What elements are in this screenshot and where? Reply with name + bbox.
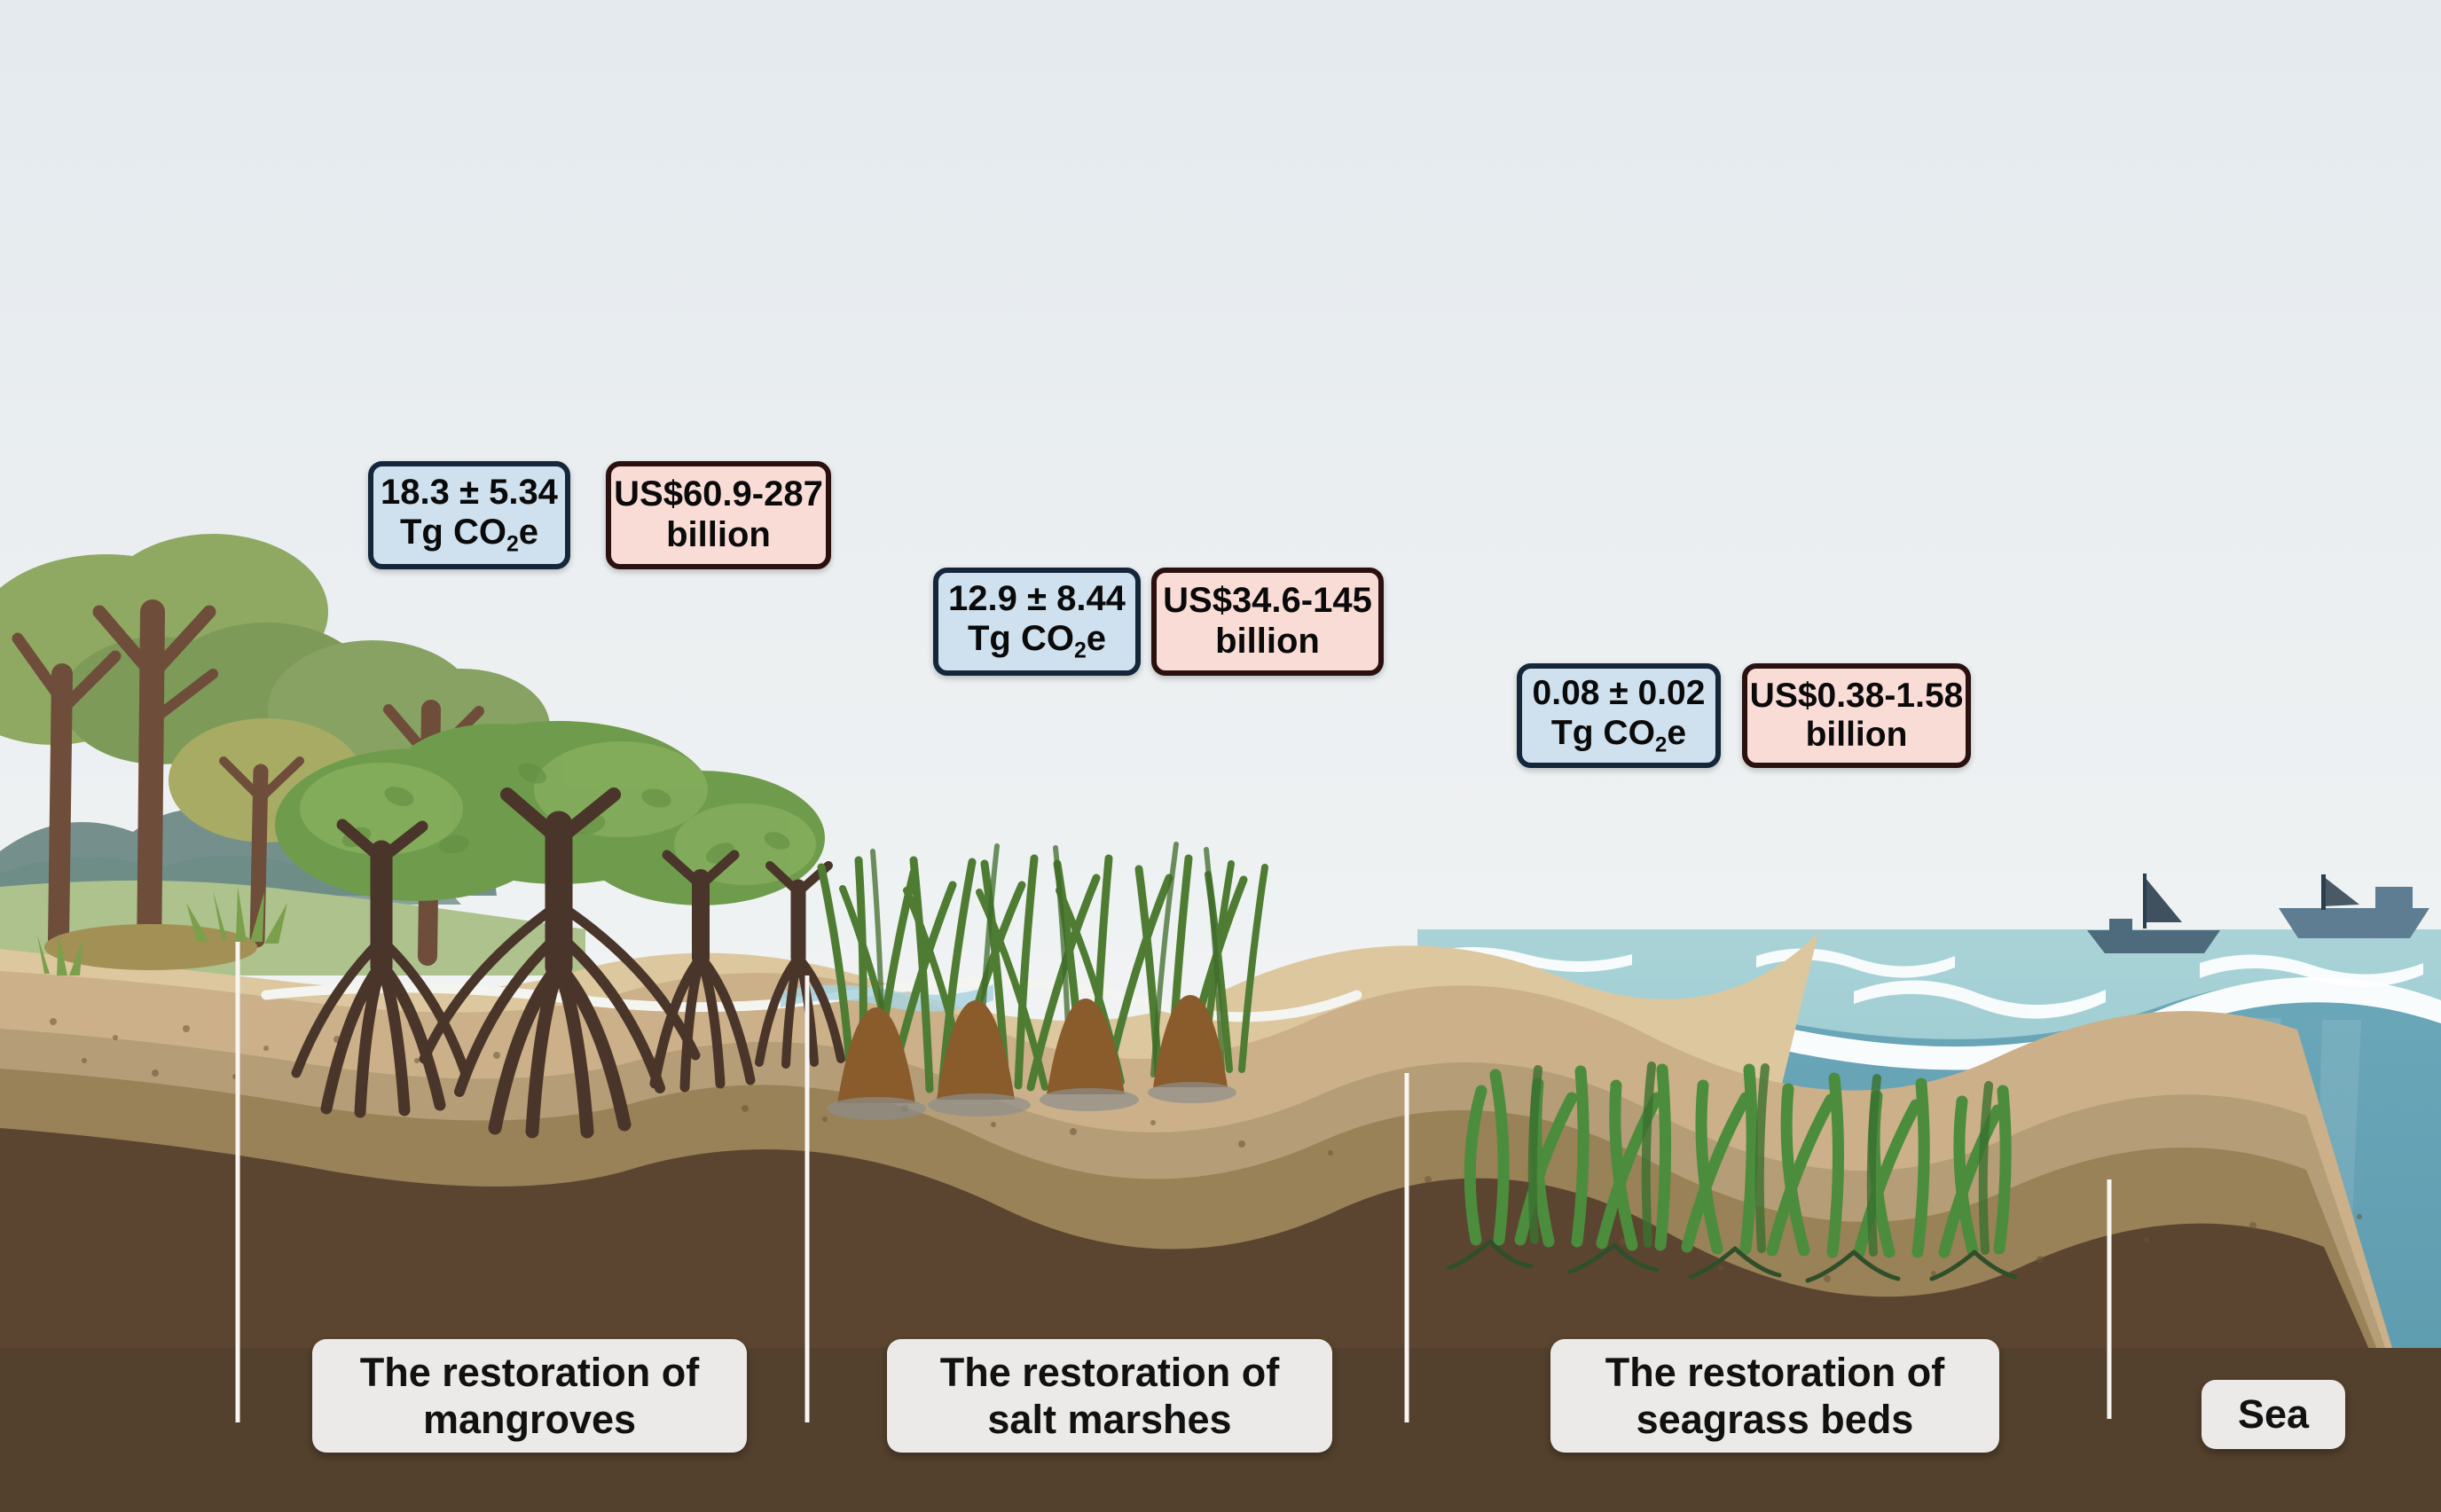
value-box-saltmarsh-carbon: 12.9 ± 8.44 Tg CO2e xyxy=(933,568,1141,676)
value-box-saltmarsh-esv: US$34.6-145 billion xyxy=(1151,568,1384,676)
value-line-2: billion xyxy=(666,515,771,556)
value-line-1: US$60.9-287 xyxy=(614,474,823,515)
label-line-1: Sea xyxy=(2238,1391,2309,1438)
value-line-2: Tg CO2e xyxy=(400,513,538,558)
ground-label-seagrass-beds: The restoration of seagrass beds xyxy=(1550,1339,1999,1453)
label-line-1: The restoration of xyxy=(1605,1349,1945,1396)
label-line-2: seagrass beds xyxy=(1636,1396,1914,1443)
value-line-1: 12.9 ± 8.44 xyxy=(948,579,1126,620)
ground-label-salt-marshes: The restoration of salt marshes xyxy=(887,1339,1332,1453)
value-box-seagrass-carbon: 0.08 ± 0.02 Tg CO2e xyxy=(1517,663,1721,768)
infographic-root: Benefits of coastal wetland restoration … xyxy=(0,0,2441,1512)
value-line-2: Tg CO2e xyxy=(968,619,1106,664)
value-box-mangrove-esv: US$60.9-287 billion xyxy=(606,461,831,569)
ground-label-mangroves: The restoration of mangroves xyxy=(312,1339,747,1453)
label-line-2: mangroves xyxy=(423,1396,636,1443)
value-line-1: US$34.6-145 xyxy=(1163,581,1372,622)
coastal-scene-illustration xyxy=(0,0,2441,1512)
value-box-seagrass-esv: US$0.38-1.58 billion xyxy=(1742,663,1971,768)
label-line-1: The restoration of xyxy=(940,1349,1280,1396)
value-line-1: US$0.38-1.58 xyxy=(1750,677,1964,716)
value-line-1: 18.3 ± 5.34 xyxy=(381,473,558,513)
label-line-1: The restoration of xyxy=(360,1349,700,1396)
ground-label-sea: Sea xyxy=(2202,1380,2345,1449)
value-line-2: billion xyxy=(1806,716,1908,755)
value-line-2: Tg CO2e xyxy=(1551,714,1686,757)
value-line-1: 0.08 ± 0.02 xyxy=(1533,674,1706,713)
value-line-2: billion xyxy=(1215,622,1320,662)
value-box-mangrove-carbon: 18.3 ± 5.34 Tg CO2e xyxy=(368,461,570,569)
label-line-2: salt marshes xyxy=(987,1396,1231,1443)
